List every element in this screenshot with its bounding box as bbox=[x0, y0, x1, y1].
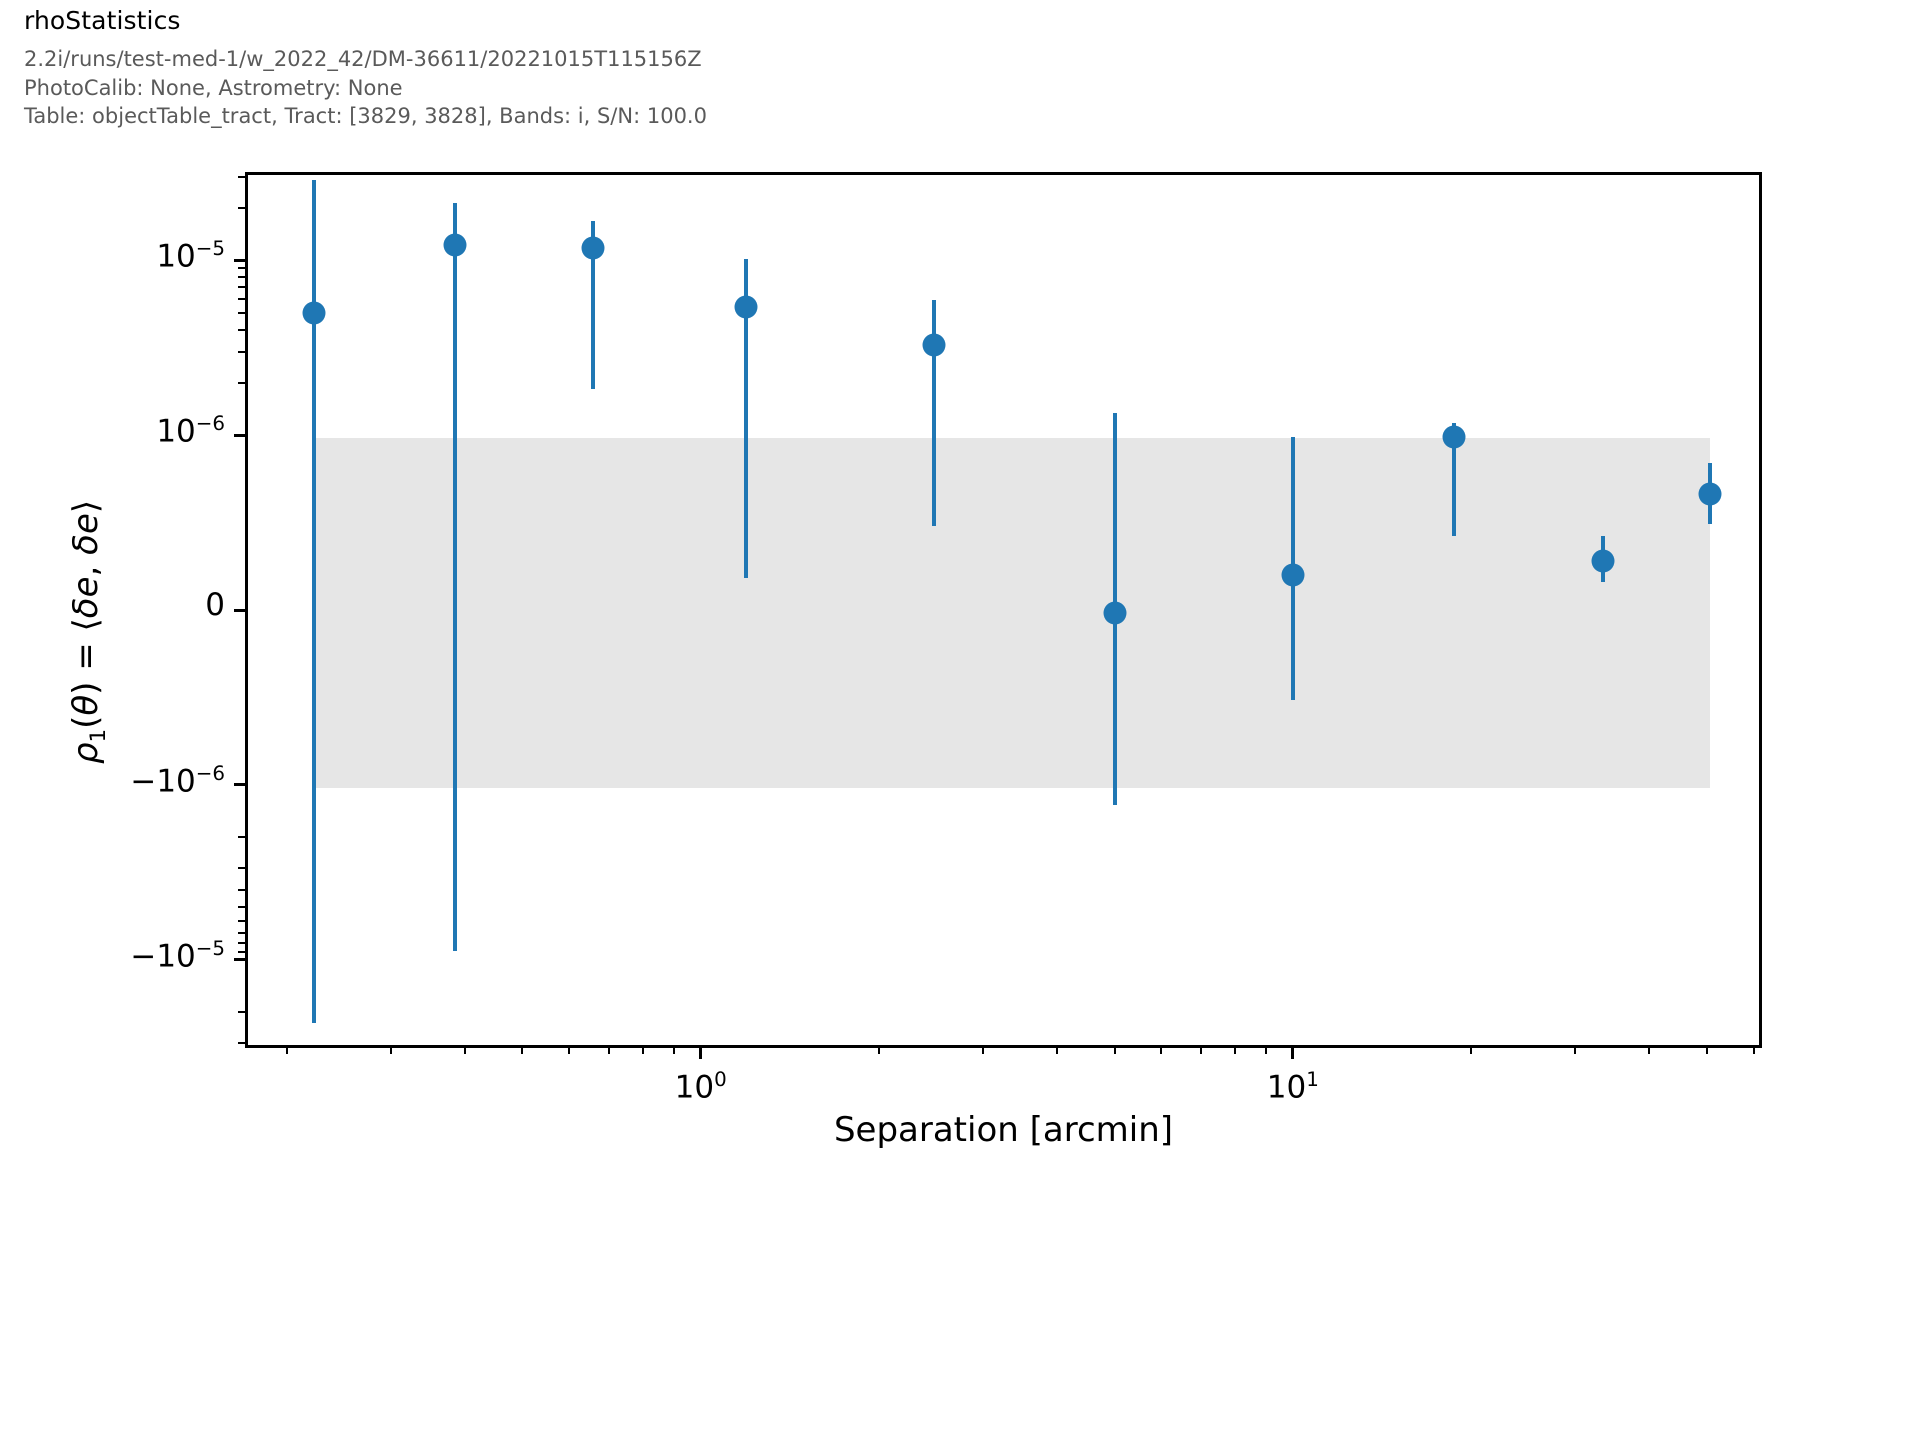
y-axis-tick-label: 10−5 bbox=[156, 237, 225, 274]
x-axis-minor-tick bbox=[642, 1048, 644, 1054]
x-axis-minor-tick bbox=[464, 1048, 466, 1054]
y-axis-tick bbox=[234, 783, 245, 786]
y-axis-minor-tick bbox=[238, 1011, 245, 1013]
x-axis-minor-tick bbox=[1470, 1048, 1472, 1054]
x-axis-minor-tick bbox=[568, 1048, 570, 1054]
data-point[interactable] bbox=[923, 334, 946, 357]
y-axis-minor-tick bbox=[238, 267, 245, 269]
plot-axes bbox=[245, 172, 1762, 1048]
y-axis-tick bbox=[234, 434, 245, 437]
page-title: rhoStatistics bbox=[24, 6, 181, 35]
x-axis-minor-tick bbox=[521, 1048, 523, 1054]
y-axis-minor-tick bbox=[238, 176, 245, 178]
y-axis-tick bbox=[234, 609, 245, 612]
x-axis-minor-tick bbox=[1574, 1048, 1576, 1054]
y-axis-minor-tick bbox=[238, 867, 245, 869]
data-point[interactable] bbox=[303, 301, 326, 324]
x-axis-minor-tick bbox=[982, 1048, 984, 1054]
subtitle-table-info: Table: objectTable_tract, Tract: [3829, … bbox=[24, 104, 707, 128]
x-axis-minor-tick bbox=[1160, 1048, 1162, 1054]
x-axis-minor-tick bbox=[1200, 1048, 1202, 1054]
y-axis-minor-tick bbox=[238, 932, 245, 934]
data-point[interactable] bbox=[1282, 563, 1305, 586]
x-axis-minor-tick bbox=[1114, 1048, 1116, 1054]
reference-band bbox=[314, 438, 1709, 788]
x-axis-minor-tick bbox=[390, 1048, 392, 1054]
x-axis-minor-tick bbox=[608, 1048, 610, 1054]
y-axis-minor-tick bbox=[238, 836, 245, 838]
y-axis-minor-tick bbox=[238, 207, 245, 209]
figure-canvas: rhoStatistics 2.2i/runs/test-med-1/w_202… bbox=[0, 0, 1920, 1440]
error-bar bbox=[453, 203, 457, 951]
subtitle-collection-path: 2.2i/runs/test-med-1/w_2022_42/DM-36611/… bbox=[24, 47, 702, 71]
y-axis-minor-tick bbox=[238, 329, 245, 331]
y-axis-tick bbox=[234, 259, 245, 262]
y-axis-tick bbox=[234, 958, 245, 961]
x-axis-tick bbox=[1291, 1048, 1294, 1059]
data-point[interactable] bbox=[1443, 425, 1466, 448]
x-axis-minor-tick bbox=[1753, 1048, 1755, 1054]
plot-area bbox=[248, 175, 1759, 1045]
x-axis-minor-tick bbox=[1056, 1048, 1058, 1054]
y-axis-minor-tick bbox=[238, 906, 245, 908]
y-axis-tick-label: −10−5 bbox=[130, 937, 225, 974]
y-axis-minor-tick bbox=[238, 312, 245, 314]
x-axis-label: Separation [arcmin] bbox=[245, 1110, 1762, 1150]
x-axis-minor-tick bbox=[878, 1048, 880, 1054]
data-point[interactable] bbox=[1103, 602, 1126, 625]
data-point[interactable] bbox=[1591, 549, 1614, 572]
y-axis-tick-label: 0 bbox=[205, 587, 225, 623]
y-axis-minor-tick bbox=[238, 889, 245, 891]
x-axis-minor-tick bbox=[286, 1048, 288, 1054]
x-axis-minor-tick bbox=[673, 1048, 675, 1054]
y-axis-minor-tick bbox=[238, 276, 245, 278]
data-point[interactable] bbox=[581, 237, 604, 260]
y-axis-minor-tick bbox=[238, 942, 245, 944]
y-axis-label: ρ1(θ) = ⟨δe, δe⟩ bbox=[66, 252, 110, 1012]
x-axis-minor-tick bbox=[1234, 1048, 1236, 1054]
y-axis-tick-label: 10−6 bbox=[156, 412, 225, 449]
data-point[interactable] bbox=[1698, 483, 1721, 506]
x-axis-minor-tick bbox=[1706, 1048, 1708, 1054]
y-axis-minor-tick bbox=[238, 351, 245, 353]
data-point[interactable] bbox=[443, 233, 466, 256]
data-point[interactable] bbox=[735, 296, 758, 319]
y-axis-minor-tick bbox=[238, 382, 245, 384]
y-axis-minor-tick bbox=[238, 1042, 245, 1044]
x-axis-tick bbox=[699, 1048, 702, 1059]
x-axis-tick-label: 101 bbox=[1267, 1068, 1319, 1105]
x-axis-minor-tick bbox=[1265, 1048, 1267, 1054]
x-axis-tick-label: 100 bbox=[675, 1068, 727, 1105]
y-axis-minor-tick bbox=[238, 286, 245, 288]
x-axis-minor-tick bbox=[1648, 1048, 1650, 1054]
y-axis-tick-label: −10−6 bbox=[130, 762, 225, 799]
y-axis-minor-tick bbox=[238, 951, 245, 953]
y-axis-minor-tick bbox=[238, 298, 245, 300]
y-axis-minor-tick bbox=[238, 920, 245, 922]
subtitle-calibration-info: PhotoCalib: None, Astrometry: None bbox=[24, 76, 403, 100]
